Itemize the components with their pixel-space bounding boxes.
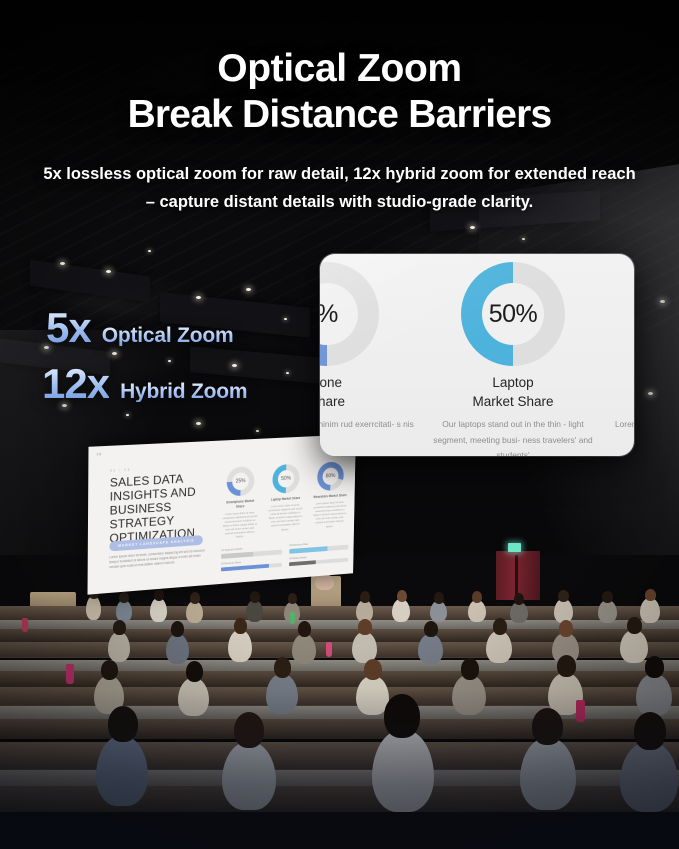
ceiling-light: [286, 372, 289, 374]
caption-line-1: Laptop: [426, 374, 600, 393]
audience-head: [119, 592, 129, 603]
donut-value: 50%: [272, 464, 299, 494]
audience-head: [364, 659, 382, 680]
audience-head: [557, 655, 576, 677]
bar-column: 01 Segment Growth 02 Revenue Share: [221, 545, 282, 575]
donut-body: olor sit amet, t enad minim rud exerrcit…: [320, 417, 414, 433]
audience-member: [166, 634, 189, 664]
audience-member: [452, 675, 486, 715]
magnified-content: % hone Share olor sit amet, t enad minim…: [320, 254, 634, 456]
audience-member: [392, 599, 410, 622]
audience-member: [178, 678, 209, 716]
audience-member: [186, 601, 203, 623]
audience-member: [486, 631, 512, 663]
water-bottle: [290, 612, 295, 624]
donut-caption: Laptop Market Share: [426, 374, 600, 411]
audience-head: [461, 658, 479, 680]
audience-head: [514, 593, 524, 605]
donut-value: 50%: [461, 262, 565, 366]
audience-head: [108, 706, 138, 742]
audience-member: [418, 634, 443, 664]
spec-optical-zoom: 5x Optical Zoom: [46, 307, 234, 349]
headline-line-1: Optical Zoom: [0, 46, 679, 92]
spec-hybrid-zoom: 12x Hybrid Zoom: [42, 363, 247, 405]
audience-head: [397, 590, 407, 602]
audience-head: [434, 592, 444, 604]
exit-sign-icon: [508, 543, 521, 552]
subheadline: 5x lossless optical zoom for raw detail,…: [40, 160, 639, 217]
donut-ring: 50%: [272, 464, 299, 494]
magnified-zoom-card: % hone Share olor sit amet, t enad minim…: [320, 254, 634, 456]
audience-member: [468, 600, 486, 622]
audience-member: [510, 602, 528, 623]
audience-head: [358, 619, 372, 635]
donut-body: Lorem ipsum dolor sit amet, consectetur …: [267, 503, 303, 533]
projected-slide: 16 01 / 04 SALES DATA INSIGHTS AND BUSIN…: [88, 434, 356, 594]
audience-member: [246, 600, 263, 622]
donut-caption: Laptop Market Share: [268, 496, 304, 503]
slide-donut: 25% Smartphone Market Share Lorem ipsum …: [221, 466, 259, 541]
spec-value: 5x: [46, 307, 91, 349]
audience-member: [620, 630, 648, 663]
ceiling-light: [256, 430, 259, 432]
caption-line-2: Market: [612, 393, 634, 412]
audience-member: [598, 600, 617, 623]
audience-member: [228, 630, 252, 662]
donut-caption: Weara Market: [612, 374, 634, 411]
audience-head: [602, 591, 613, 603]
slide-body-text: Lorem ipsum dolor sit amet, consectetur …: [109, 548, 210, 570]
audience-member: [636, 674, 672, 716]
audience-head: [288, 593, 297, 604]
audience-head: [493, 618, 507, 635]
audience-head: [190, 592, 200, 604]
bar-column: 03 Retention Rate 04 Market Reach: [289, 540, 349, 570]
ceiling-light: [246, 288, 251, 291]
audience-head: [154, 589, 164, 601]
audience-head: [186, 661, 203, 682]
ceiling-light: [196, 296, 201, 299]
slide-donut: 50% Laptop Market Share Lorem ipsum dolo…: [267, 463, 304, 537]
audience-head: [171, 621, 184, 637]
caption-line-1: Weara: [612, 374, 634, 393]
spec-label: Optical Zoom: [102, 325, 234, 346]
audience-member: [116, 600, 132, 622]
water-bottle: [22, 618, 28, 632]
audience-head: [472, 591, 482, 603]
audience-member: [520, 738, 576, 810]
donut-ring: 25%: [227, 466, 255, 497]
audience-head: [645, 656, 664, 678]
magnified-column: 50% Laptop Market Share Our laptops stan…: [420, 254, 606, 456]
ceiling-light: [196, 422, 201, 425]
audience-head: [384, 694, 420, 738]
donut-body: Lorem ipsum dolor sit amet, consectetur …: [221, 511, 258, 541]
audience-member: [96, 736, 148, 806]
audience-head: [627, 617, 642, 634]
page-title: Optical Zoom Break Distance Barriers: [0, 46, 679, 137]
desk-front: [0, 629, 679, 642]
slide-donut-group: 25% Smartphone Market Share Lorem ipsum …: [221, 461, 348, 541]
magnified-column: 80 Weara Market Lorem ipsum d magna aliq…: [606, 254, 634, 456]
ceiling-light: [284, 318, 287, 320]
audience-head: [274, 657, 291, 678]
audience-member: [640, 598, 660, 623]
magnified-column: % hone Share olor sit amet, t enad minim…: [320, 254, 420, 456]
slide-number: 16: [96, 451, 101, 456]
caption-line-1: hone: [320, 374, 414, 393]
donut-body: Lorem ipsum d magna aliqua. U veniam, qu…: [612, 417, 634, 448]
audience-head: [424, 621, 438, 637]
caption-line-2: Market Share: [426, 393, 600, 412]
audience-member: [222, 742, 276, 810]
donut-caption: hone Share: [320, 374, 414, 411]
speaker-body: [315, 574, 334, 590]
donut-ring: 80%: [317, 461, 344, 491]
audience-head: [250, 591, 260, 603]
water-bottle: [66, 664, 74, 684]
water-bottle: [576, 700, 585, 722]
desk: [0, 620, 679, 629]
audience-head: [645, 589, 656, 601]
headline-line-2: Break Distance Barriers: [0, 92, 679, 138]
audience-head: [298, 621, 311, 637]
audience-member: [430, 601, 447, 622]
donut-caption: Smartphone Market Share: [222, 499, 259, 510]
spec-label: Hybrid Zoom: [120, 381, 247, 402]
donut-body: Lorem ipsum dolor sit amet, consectetur …: [312, 500, 348, 530]
audience-head: [234, 712, 264, 748]
audience-member: [620, 742, 678, 812]
donut-value: 80%: [317, 461, 344, 491]
audience-member: [292, 634, 316, 664]
donut-ring: %: [320, 262, 379, 366]
slide-bar-group: 01 Segment Growth 02 Revenue Share 03 Re…: [221, 540, 349, 575]
audience-member: [150, 598, 167, 622]
audience-head: [101, 660, 118, 680]
donut-value: 25%: [227, 466, 255, 497]
slide-eyebrow: 01 / 04: [110, 468, 131, 473]
ceiling-light: [60, 262, 65, 265]
audience-head: [234, 618, 247, 634]
audience-head: [113, 620, 126, 635]
desk-front: [0, 719, 679, 739]
ceiling-light: [106, 270, 111, 273]
audience-member: [266, 674, 298, 714]
donut-body: Our laptops stand out in the thin - ligh…: [426, 417, 600, 456]
audience-head: [558, 590, 569, 602]
donut-value: %: [320, 262, 379, 366]
audience-member: [372, 730, 434, 812]
audience-member: [86, 596, 101, 620]
slide-donut: 80% Wearables Market Share Lorem ipsum d…: [312, 461, 349, 535]
spec-value: 12x: [42, 363, 109, 405]
donut-ring: 50%: [461, 262, 565, 366]
audience-head: [634, 712, 666, 750]
ceiling-light: [470, 226, 475, 229]
audience-head: [532, 708, 563, 745]
donut-caption: Wearables Market Share: [312, 493, 347, 500]
audience-head: [559, 620, 573, 637]
caption-line-2: Share: [320, 393, 414, 412]
promo-banner: 16 01 / 04 SALES DATA INSIGHTS AND BUSIN…: [0, 0, 679, 849]
ceiling-light: [148, 250, 151, 252]
water-bottle: [326, 642, 332, 657]
audience-member: [108, 632, 130, 662]
audience-head: [360, 591, 370, 603]
